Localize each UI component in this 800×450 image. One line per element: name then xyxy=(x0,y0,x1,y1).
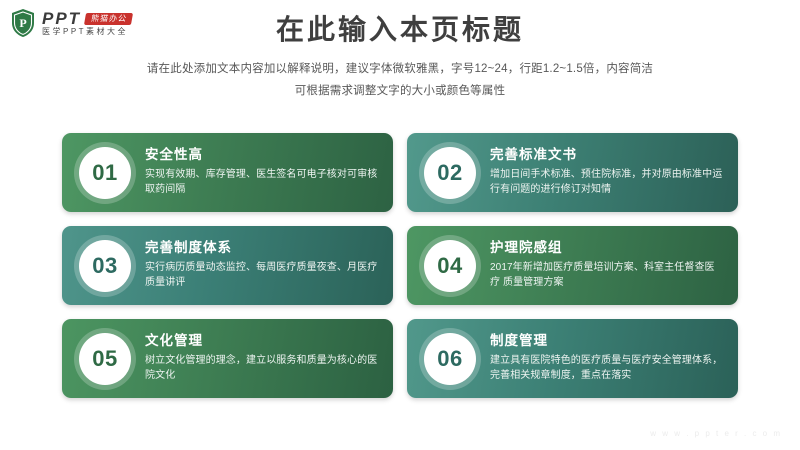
card-title: 安全性高 xyxy=(145,147,379,164)
card-body: 完善制度体系 实行病历质量动态监控、每周医疗质量夜查、月医疗质量讲评 xyxy=(145,240,393,291)
card-number: 05 xyxy=(92,348,117,370)
cards-grid: 01 安全性高 实现有效期、库存管理、医生签名可电子核对可审核取药间隔 02 完… xyxy=(62,133,738,398)
page-subtitle: 请在此处添加文本内容加以解释说明，建议字体微软雅黑，字号12~24，行距1.2~… xyxy=(0,59,800,102)
shield-p-icon: P xyxy=(10,8,36,38)
card-number-badge: 06 xyxy=(424,333,476,385)
card-title: 护理院感组 xyxy=(490,240,724,257)
site-logo[interactable]: P PPT 熊猫办公 医学PPT素材大全 xyxy=(10,8,132,38)
card-description: 增加日间手术标准、预住院标准，并对原由标准中运行有问题的进行修订对知情 xyxy=(490,167,724,198)
card-number-badge: 04 xyxy=(424,240,476,292)
subtitle-line-2: 可根据需求调整文字的大小或颜色等属性 xyxy=(0,81,800,102)
card-body: 护理院感组 2017年新增加医疗质量培训方案、科室主任督查医疗 质量管理方案 xyxy=(490,240,738,291)
card-title: 完善制度体系 xyxy=(145,240,379,257)
svg-text:P: P xyxy=(19,16,26,30)
card-number-badge: 02 xyxy=(424,147,476,199)
card-number: 02 xyxy=(437,162,462,184)
card-item-03[interactable]: 03 完善制度体系 实行病历质量动态监控、每周医疗质量夜查、月医疗质量讲评 xyxy=(62,226,393,305)
card-body: 制度管理 建立具有医院特色的医疗质量与医疗安全管理体系，完善相关规章制度，重点在… xyxy=(490,333,738,384)
card-title: 文化管理 xyxy=(145,333,379,350)
card-number: 03 xyxy=(92,255,117,277)
card-number: 04 xyxy=(437,255,462,277)
card-item-05[interactable]: 05 文化管理 树立文化管理的理念，建立以服务和质量为核心的医院文化 xyxy=(62,319,393,398)
card-item-06[interactable]: 06 制度管理 建立具有医院特色的医疗质量与医疗安全管理体系，完善相关规章制度，… xyxy=(407,319,738,398)
card-title: 制度管理 xyxy=(490,333,724,350)
card-number-badge: 01 xyxy=(79,147,131,199)
card-body: 安全性高 实现有效期、库存管理、医生签名可电子核对可审核取药间隔 xyxy=(145,147,393,198)
logo-badge: 熊猫办公 xyxy=(84,13,133,25)
card-number: 06 xyxy=(437,348,462,370)
card-number-badge: 05 xyxy=(79,333,131,385)
card-item-02[interactable]: 02 完善标准文书 增加日间手术标准、预住院标准，并对原由标准中运行有问题的进行… xyxy=(407,133,738,212)
card-description: 2017年新增加医疗质量培训方案、科室主任督查医疗 质量管理方案 xyxy=(490,260,724,291)
card-body: 文化管理 树立文化管理的理念，建立以服务和质量为核心的医院文化 xyxy=(145,333,393,384)
card-description: 树立文化管理的理念，建立以服务和质量为核心的医院文化 xyxy=(145,353,379,384)
card-number: 01 xyxy=(92,162,117,184)
subtitle-line-1: 请在此处添加文本内容加以解释说明，建议字体微软雅黑，字号12~24，行距1.2~… xyxy=(0,59,800,80)
card-description: 建立具有医院特色的医疗质量与医疗安全管理体系，完善相关规章制度，重点在落实 xyxy=(490,353,724,384)
card-description: 实现有效期、库存管理、医生签名可电子核对可审核取药间隔 xyxy=(145,167,379,198)
footer-watermark: w w w . p p t e r . c o m xyxy=(650,429,782,438)
card-body: 完善标准文书 增加日间手术标准、预住院标准，并对原由标准中运行有问题的进行修订对… xyxy=(490,147,738,198)
logo-brand-text: PPT xyxy=(42,10,81,27)
card-item-01[interactable]: 01 安全性高 实现有效期、库存管理、医生签名可电子核对可审核取药间隔 xyxy=(62,133,393,212)
card-title: 完善标准文书 xyxy=(490,147,724,164)
logo-subtitle: 医学PPT素材大全 xyxy=(42,28,132,36)
card-number-badge: 03 xyxy=(79,240,131,292)
card-description: 实行病历质量动态监控、每周医疗质量夜查、月医疗质量讲评 xyxy=(145,260,379,291)
card-item-04[interactable]: 04 护理院感组 2017年新增加医疗质量培训方案、科室主任督查医疗 质量管理方… xyxy=(407,226,738,305)
